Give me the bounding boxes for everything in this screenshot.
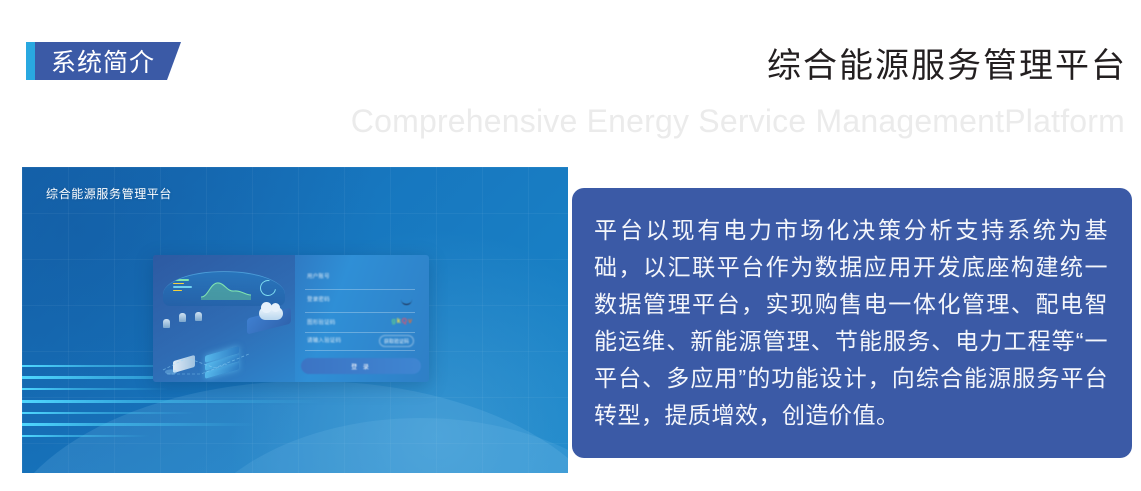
section-badge: 系统简介 (26, 42, 181, 80)
password-field-label: 登录密码 (307, 295, 330, 303)
people-figures-icon (163, 311, 219, 337)
login-screen-preview: 综合能源服务管理平台 (22, 167, 568, 473)
captcha-field[interactable]: 图形验证码 gkQv (305, 317, 415, 333)
chart-bars-icon (173, 279, 192, 293)
login-form: 用户账号 登录密码 图形验证码 gkQv 请输入验证码 获取验证码 登 录 (295, 255, 429, 382)
description-text: 平台以现有电力市场化决策分析支持系统为基础，以汇联平台作为数据应用开发底座构建统… (594, 212, 1108, 434)
account-field-label: 用户账号 (307, 272, 330, 280)
verification-code-label: 请输入验证码 (307, 336, 341, 344)
page-subtitle: Comprehensive Energy Service ManagementP… (351, 103, 1125, 140)
section-badge-accent-bar (26, 42, 35, 80)
preview-app-title: 综合能源服务管理平台 (46, 185, 172, 202)
login-illustration (153, 255, 295, 382)
network-lines-icon (157, 344, 277, 378)
cloud-icon (253, 307, 287, 325)
verification-code-field[interactable]: 请输入验证码 获取验证码 (305, 335, 415, 351)
account-field[interactable]: 用户账号 (305, 271, 415, 290)
description-panel: 平台以现有电力市场化决策分析支持系统为基础，以汇联平台作为数据应用开发底座构建统… (572, 188, 1132, 458)
section-badge-label: 系统简介 (51, 43, 155, 79)
captcha-field-label: 图形验证码 (307, 318, 336, 326)
dashboard-panel-icon (163, 271, 285, 306)
page-title: 综合能源服务管理平台 (767, 38, 1127, 87)
gauge-ring-icon (257, 277, 279, 299)
password-field[interactable]: 登录密码 (305, 294, 415, 313)
eye-icon[interactable] (401, 298, 412, 305)
get-code-button[interactable]: 获取验证码 (379, 335, 414, 347)
login-submit-button[interactable]: 登 录 (301, 358, 421, 374)
login-card: 用户账号 登录密码 图形验证码 gkQv 请输入验证码 获取验证码 登 录 (153, 255, 429, 382)
section-badge-plate: 系统简介 (35, 42, 181, 80)
line-chart-icon (201, 278, 251, 300)
captcha-image[interactable]: gkQv (391, 318, 413, 325)
captcha-char-4: v (408, 318, 413, 325)
